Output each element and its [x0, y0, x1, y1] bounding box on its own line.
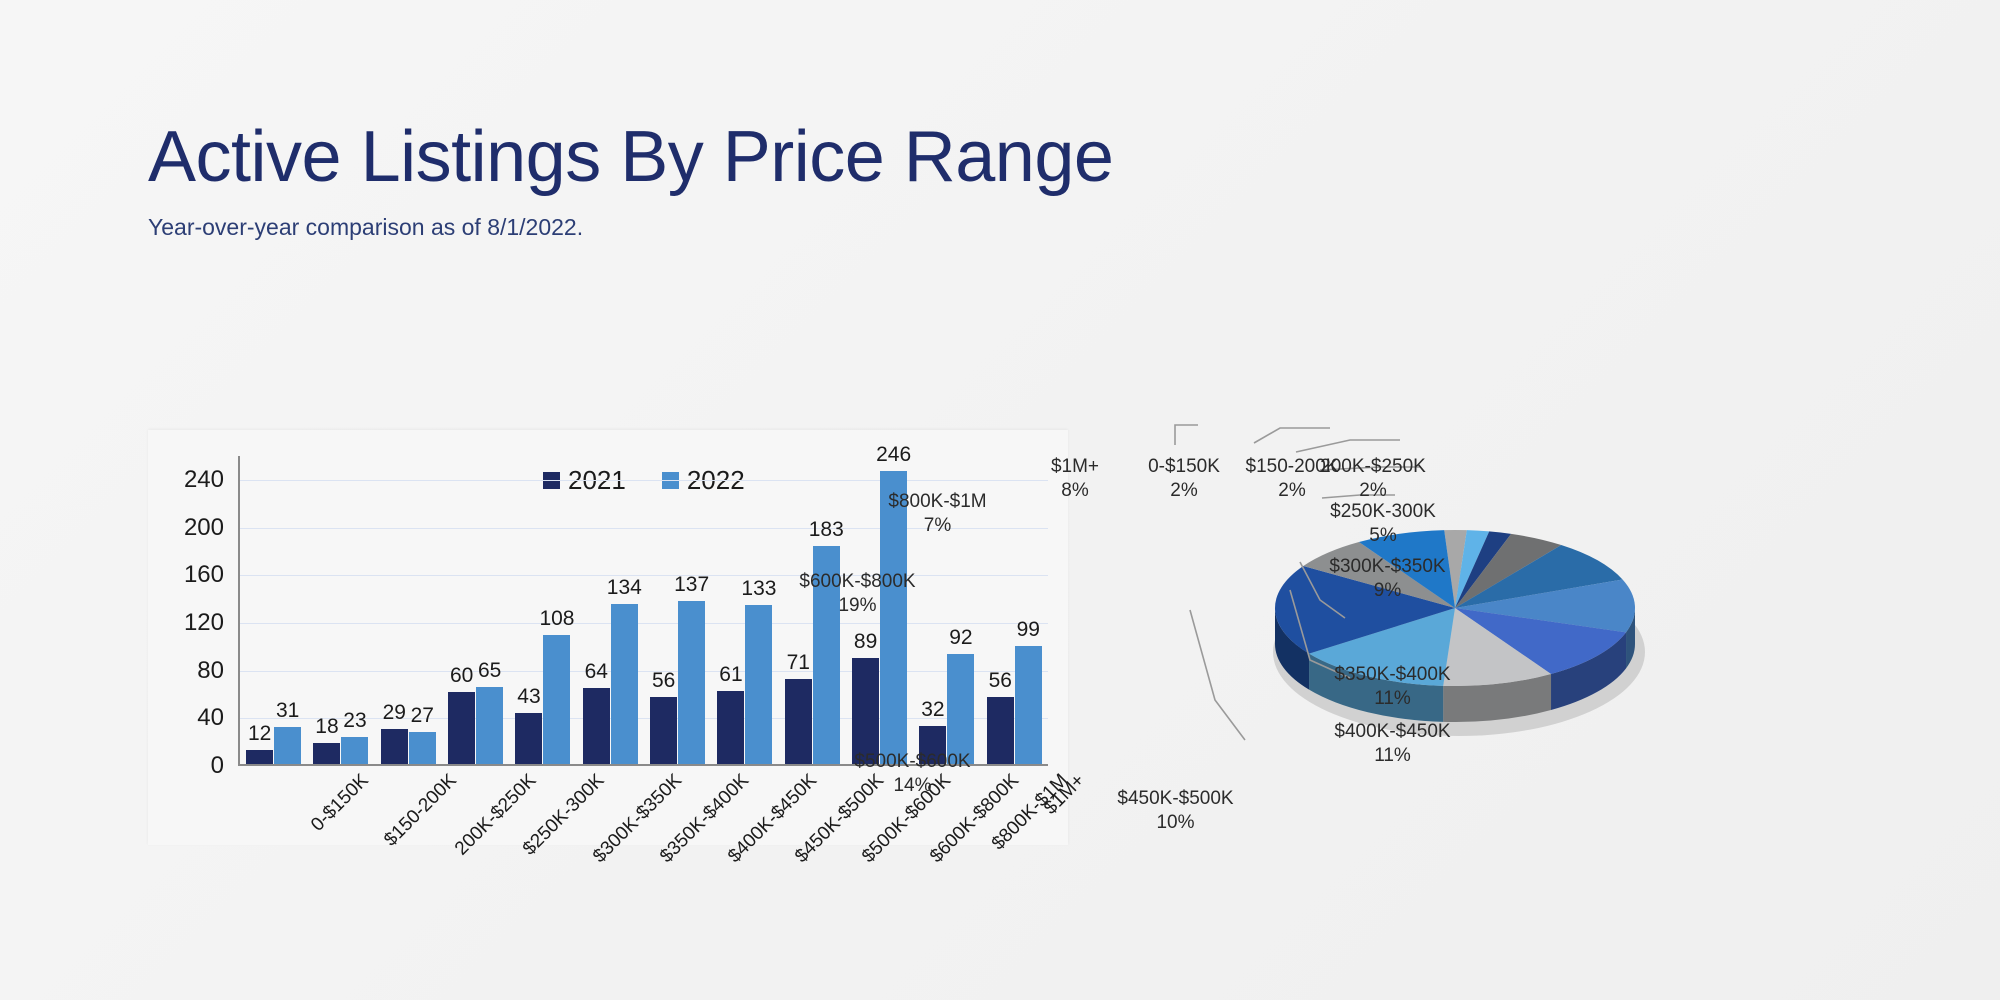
x-axis-label: 0-$150K [307, 770, 373, 836]
pie-label-name: $500K-$600K [845, 750, 980, 774]
bar-y2022[interactable]: 134 [611, 604, 638, 764]
pie-label-percent: 9% [1320, 579, 1455, 603]
pie-label-$500K-$600K: $500K-$600K14% [845, 750, 980, 798]
pie-label-$800K-$1M: $800K-$1M7% [875, 490, 1000, 538]
bar-value-label: 92 [949, 626, 972, 650]
bar-y2022[interactable]: 108 [543, 635, 570, 764]
y-axis-tick-label: 0 [211, 752, 224, 780]
y-axis-tick-label: 80 [197, 657, 224, 685]
pie-label-name: $400K-$450K [1325, 720, 1460, 744]
pie-label-name: $800K-$1M [875, 490, 1000, 514]
x-axis-label: $150-200K [380, 770, 461, 851]
bar-value-label: 246 [876, 443, 911, 467]
bar-y2021[interactable]: 71 [785, 679, 812, 764]
bar-value-label: 65 [478, 659, 501, 683]
bar-value-label: 133 [741, 577, 776, 601]
bar-value-label: 32 [921, 698, 944, 722]
pie-label-percent: 10% [1108, 811, 1243, 835]
pie-label-$450K-$500K: $450K-$500K10% [1108, 787, 1243, 835]
pie-chart-area: 0-$150K2%$150-200K2%200K-$250K2%$250K-30… [1080, 420, 1980, 840]
bar-y2021[interactable]: 43 [515, 713, 542, 764]
bar-group: 1231 [240, 456, 307, 764]
pie-label-0-$150K: 0-$150K2% [1129, 455, 1239, 503]
pie-label-percent: 19% [790, 594, 925, 618]
bar-value-label: 61 [719, 663, 742, 687]
y-axis-tick-label: 240 [184, 466, 224, 494]
header: Active Listings By Price Range Year-over… [148, 118, 1113, 241]
y-axis-tick-label: 200 [184, 514, 224, 542]
bar-y2022[interactable]: 99 [1015, 646, 1042, 764]
bar-group: 61133 [711, 456, 778, 764]
y-axis-tick-label: 160 [184, 561, 224, 589]
bar-y2021[interactable]: 29 [381, 729, 408, 764]
bar-value-label: 56 [652, 669, 675, 693]
pie-label-percent: 11% [1325, 744, 1460, 768]
bar-value-label: 64 [585, 660, 608, 684]
pie-label-name: $1M+ [1035, 455, 1115, 479]
pie-label-$1M+: $1M+8% [1035, 455, 1115, 503]
bar-value-label: 137 [674, 573, 709, 597]
bar-value-label: 29 [383, 701, 406, 725]
bar-group: 64134 [577, 456, 644, 764]
pie-label-percent: 14% [845, 774, 980, 798]
pie-label-$300K-$350K: $300K-$350K9% [1320, 555, 1455, 603]
pie-chart [1230, 490, 1680, 750]
bar-group: 6065 [442, 456, 509, 764]
bar-y2021[interactable]: 61 [717, 691, 744, 764]
bar-group: 56137 [644, 456, 711, 764]
page-subtitle: Year-over-year comparison as of 8/1/2022… [148, 214, 1113, 241]
bar-value-label: 43 [517, 685, 540, 709]
pie-label-percent: 5% [1318, 524, 1448, 548]
bar-y2022[interactable]: 137 [678, 601, 705, 764]
bar-value-label: 31 [276, 699, 299, 723]
bar-value-label: 27 [411, 704, 434, 728]
pie-label-percent: 11% [1325, 687, 1460, 711]
bar-y2021[interactable]: 56 [987, 697, 1014, 764]
pie-label-$250K-300K: $250K-300K5% [1318, 500, 1448, 548]
bar-value-label: 12 [248, 722, 271, 746]
bar-y2021[interactable]: 56 [650, 697, 677, 764]
pie-label-$350K-$400K: $350K-$400K11% [1325, 663, 1460, 711]
bar-group: 2927 [375, 456, 442, 764]
bar-y2022[interactable]: 31 [274, 727, 301, 764]
pie-label-percent: 8% [1035, 479, 1115, 503]
bar-y2021[interactable]: 64 [583, 688, 610, 764]
bar-value-label: 89 [854, 630, 877, 654]
bar-y2022[interactable]: 133 [745, 605, 772, 764]
bar-value-label: 56 [989, 669, 1012, 693]
pie-label-$400K-$450K: $400K-$450K11% [1325, 720, 1460, 768]
bar-value-label: 99 [1017, 618, 1040, 642]
bar-y2022[interactable]: 92 [947, 654, 974, 764]
pie-label-name: $350K-$400K [1325, 663, 1460, 687]
pie-label-200K-$250K: 200K-$250K2% [1308, 455, 1438, 503]
leader-line [1254, 428, 1330, 443]
bar-group: 43108 [509, 456, 576, 764]
bar-y2022[interactable]: 65 [476, 687, 503, 765]
bar-y2022[interactable]: 27 [409, 732, 436, 764]
pie-chart-svg [1230, 490, 1680, 750]
pie-label-percent: 2% [1129, 479, 1239, 503]
pie-label-name: $300K-$350K [1320, 555, 1455, 579]
pie-label-name: 200K-$250K [1308, 455, 1438, 479]
bar-y2021[interactable]: 18 [313, 743, 340, 764]
pie-label-name: $250K-300K [1318, 500, 1448, 524]
pie-label-name: 0-$150K [1129, 455, 1239, 479]
pie-label-name: $450K-$500K [1108, 787, 1243, 811]
page-title: Active Listings By Price Range [148, 118, 1113, 196]
leader-line [1175, 425, 1198, 445]
pie-label-name: $600K-$800K [790, 570, 925, 594]
leader-line [1296, 440, 1400, 452]
bar-value-label: 18 [315, 715, 338, 739]
bar-value-label: 23 [343, 709, 366, 733]
slide-background: Active Listings By Price Range Year-over… [0, 0, 2000, 1000]
bar-group: 1823 [307, 456, 374, 764]
bar-value-label: 71 [787, 651, 810, 675]
pie-label-percent: 7% [875, 514, 1000, 538]
bar-y2021[interactable]: 89 [852, 658, 879, 764]
bar-y2022[interactable]: 23 [341, 737, 368, 764]
bar-value-label: 134 [607, 576, 642, 600]
pie-label-$600K-$800K: $600K-$800K19% [790, 570, 925, 618]
y-axis-tick-label: 120 [184, 609, 224, 637]
bar-y2021[interactable]: 12 [246, 750, 273, 764]
bar-value-label: 60 [450, 664, 473, 688]
y-axis-tick-label: 40 [197, 704, 224, 732]
bar-value-label: 108 [539, 607, 574, 631]
bar-y2021[interactable]: 60 [448, 692, 475, 764]
bar-value-label: 183 [809, 518, 844, 542]
